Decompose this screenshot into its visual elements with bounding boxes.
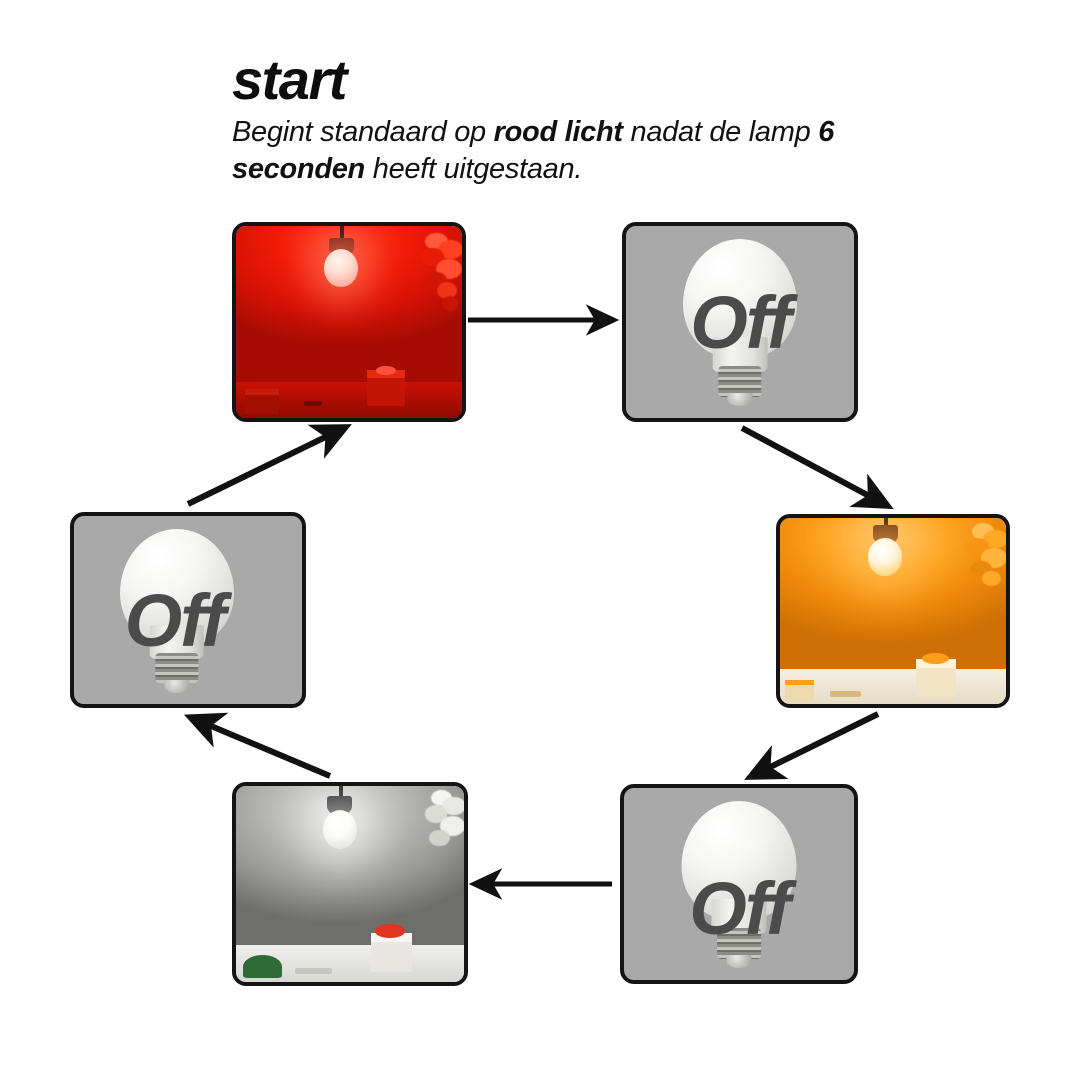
desk-item	[295, 968, 331, 974]
subtitle-part-1: Begint standaard op	[232, 116, 494, 148]
lit-bulb-icon	[324, 249, 358, 287]
desk-item	[830, 691, 862, 697]
desk-item	[304, 401, 322, 407]
gift-box	[371, 933, 412, 972]
flowers-decoration	[409, 790, 464, 876]
state-node-off-1[interactable]: Off	[622, 222, 858, 422]
flowers-decoration	[408, 230, 462, 314]
off-label: Off	[626, 286, 854, 360]
gift-box	[367, 370, 405, 406]
room-photo-white-light	[236, 786, 464, 982]
state-node-off-3[interactable]: Off	[70, 512, 306, 708]
flowers-decoration	[952, 522, 1006, 604]
subtitle-part-5: heeft uitgestaan.	[365, 153, 582, 185]
state-node-off-2[interactable]: Off	[620, 784, 858, 984]
gift-box	[916, 659, 957, 696]
state-node-amber-light[interactable]	[776, 514, 1010, 708]
room-photo-red-light	[236, 226, 462, 418]
edge-off3-to-red	[188, 428, 344, 504]
state-node-white-light[interactable]	[232, 782, 468, 986]
desk-surface	[780, 669, 1006, 704]
bulb-contact-tip	[164, 680, 189, 693]
bulb-contact-tip	[727, 393, 752, 406]
page-title: start	[232, 52, 872, 108]
page-subtitle: Begint standaard op rood licht nadat de …	[232, 114, 872, 188]
subtitle-emphasis-color: rood licht	[494, 116, 623, 148]
lit-bulb-icon	[868, 538, 902, 575]
edge-amber-to-off2	[752, 714, 878, 776]
room-photo-amber-light	[780, 518, 1006, 704]
off-label: Off	[624, 872, 854, 946]
gift-box-secondary	[245, 389, 279, 414]
gift-box-secondary	[785, 680, 814, 702]
edge-white-to-off3	[192, 718, 330, 776]
plant-decoration	[243, 955, 282, 979]
lit-bulb-icon	[323, 810, 357, 849]
edge-off1-to-amber	[742, 428, 886, 505]
diagram-canvas: start Begint standaard op rood licht nad…	[0, 0, 1080, 1080]
header-block: start Begint standaard op rood licht nad…	[232, 52, 872, 188]
off-label: Off	[70, 584, 302, 658]
subtitle-part-3: nadat de lamp	[623, 116, 818, 148]
state-node-red-light[interactable]	[232, 222, 466, 422]
bulb-contact-tip	[726, 955, 751, 968]
